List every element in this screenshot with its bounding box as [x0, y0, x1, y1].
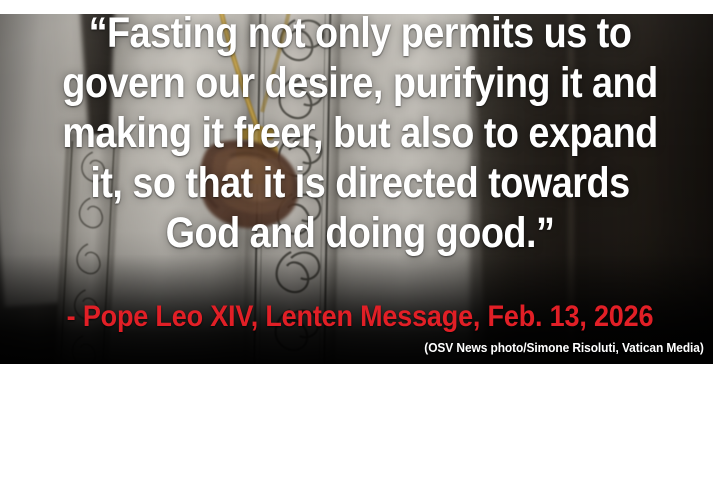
quote-line-1: “Fasting not only permits us to — [43, 8, 677, 58]
quote-line-2: govern our desire, purifying it and — [43, 58, 677, 108]
quote-card: “Fasting not only permits us to govern o… — [0, 0, 720, 480]
attribution-line: - Pope Leo XIV, Lenten Message, Feb. 13,… — [36, 300, 684, 334]
quote-line-4: it, so that it is directed towards — [43, 158, 677, 208]
quote-line-5: God and doing good.” — [43, 208, 677, 258]
margin-right — [713, 0, 720, 480]
photo-credit: (OSV News photo/Simone Risoluti, Vatican… — [425, 340, 704, 356]
margin-bottom — [0, 364, 720, 480]
quote-text: “Fasting not only permits us to govern o… — [0, 8, 720, 258]
margin-top — [0, 0, 720, 14]
quote-line-3: making it freer, but also to expand — [43, 108, 677, 158]
